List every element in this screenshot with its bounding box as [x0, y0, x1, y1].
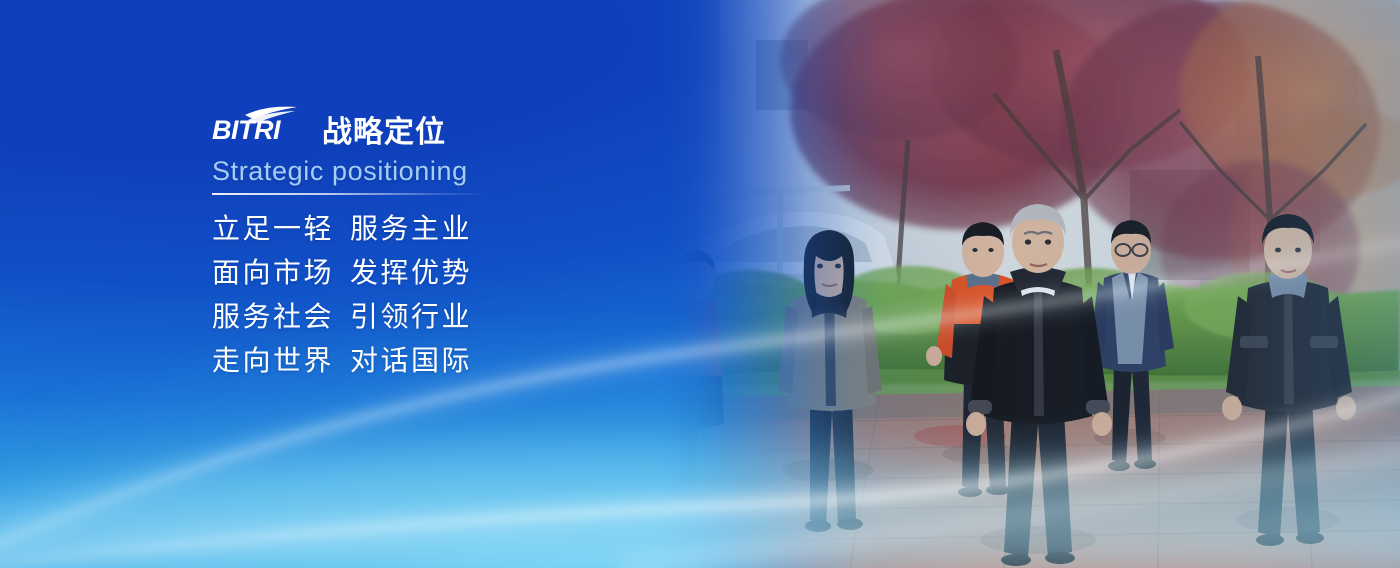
- slogan-right-text: 发挥优势: [350, 259, 472, 287]
- banner-text-block: BITRI 战略定位 Strategic positioning 立足一轻 服务…: [212, 104, 732, 375]
- slogan-left-text: 服务社会: [212, 303, 350, 331]
- slogan-line: 走向世界 对话国际: [212, 347, 732, 375]
- slogan-line: 服务社会 引领行业: [212, 303, 732, 331]
- bitri-logo: BITRI: [212, 104, 308, 144]
- slogan-right-text: 对话国际: [350, 347, 472, 375]
- slogan-right-text: 引领行业: [350, 303, 472, 331]
- slogan-line: 面向市场 发挥优势: [212, 259, 732, 287]
- slogan-line: 立足一轻 服务主业: [212, 215, 732, 243]
- strategic-positioning-banner: BITRI 战略定位 Strategic positioning 立足一轻 服务…: [0, 0, 1400, 568]
- brand-title-cn: 战略定位: [322, 118, 446, 148]
- svg-text:BITRI: BITRI: [212, 115, 281, 144]
- slogan-left-text: 面向市场: [212, 259, 350, 287]
- campus-walk-photo: [660, 0, 1400, 568]
- slogan-right-text: 服务主业: [350, 215, 472, 243]
- brand-subtitle-en: Strategic positioning: [212, 157, 732, 185]
- slogan-list: 立足一轻 服务主业 面向市场 发挥优势 服务社会 引领行业 走向世界 对话国际: [212, 215, 732, 375]
- title-divider: [212, 193, 490, 195]
- slogan-left-text: 立足一轻: [212, 215, 350, 243]
- slogan-left-text: 走向世界: [212, 347, 350, 375]
- brand-row: BITRI 战略定位: [212, 104, 732, 148]
